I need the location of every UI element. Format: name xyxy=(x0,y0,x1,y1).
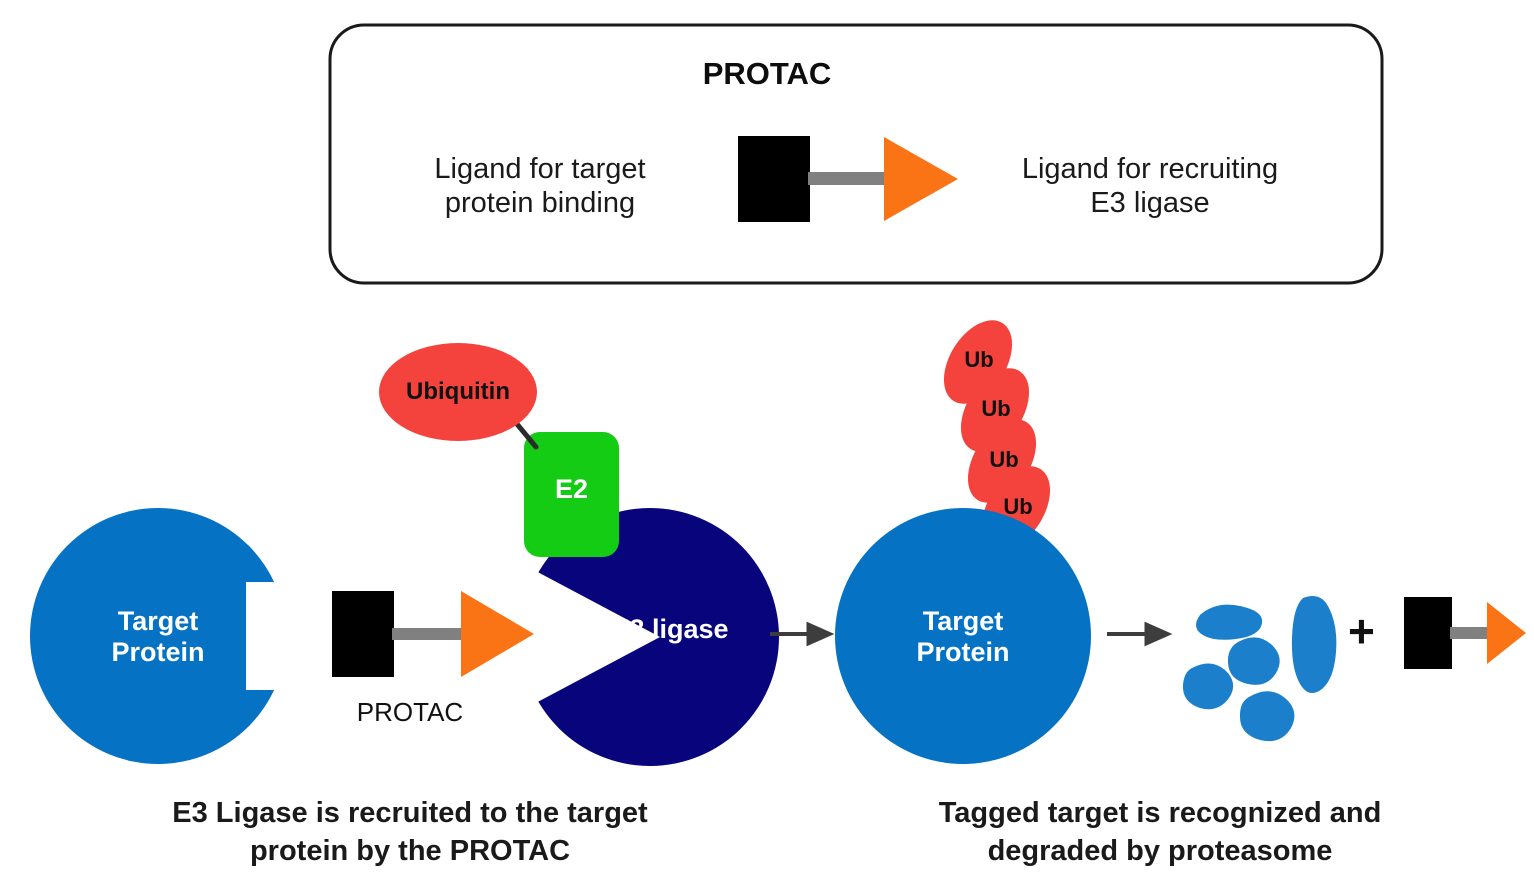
panel-1-caption: E3 Ligase is recruited to the target pro… xyxy=(60,795,760,870)
ub-chain-label-2: Ub xyxy=(969,396,1023,421)
legend-warhead-icon xyxy=(738,136,810,222)
ub-chain-label-4: Ub xyxy=(991,494,1045,519)
protac-warhead-icon xyxy=(332,591,394,677)
legend-title: PROTAC xyxy=(0,56,1534,93)
diagram-vector-stage xyxy=(0,0,1534,892)
ub-chain-label-3: Ub xyxy=(977,447,1031,472)
protac-diagram-canvas: PROTAC Ligand for target protein binding… xyxy=(0,0,1534,892)
legend-left-caption: Ligand for target protein binding xyxy=(370,152,710,220)
degraded-peptide-fragments xyxy=(1183,596,1336,741)
ub-chain-label-1: Ub xyxy=(952,347,1006,372)
panel-2-caption: Tagged target is recognized and degraded… xyxy=(830,795,1490,870)
protac-caption: PROTAC xyxy=(330,697,490,728)
released-protac-ligand-triangle-icon xyxy=(1487,602,1526,664)
legend-linker-icon xyxy=(808,172,886,185)
target-protein-label-right: Target Protein xyxy=(863,606,1063,668)
target-protein-label-left: Target Protein xyxy=(58,606,258,668)
e3-ligase-label: E3 ligase xyxy=(590,614,750,645)
released-protac-warhead-icon xyxy=(1404,597,1452,669)
plus-symbol: + xyxy=(1348,608,1375,654)
protac-linker-icon xyxy=(392,628,462,640)
released-protac-linker-icon xyxy=(1450,627,1490,639)
ubiquitin-label: Ubiquitin xyxy=(378,378,538,405)
legend-right-caption: Ligand for recruiting E3 ligase xyxy=(955,152,1345,220)
e2-label: E2 xyxy=(524,474,619,505)
